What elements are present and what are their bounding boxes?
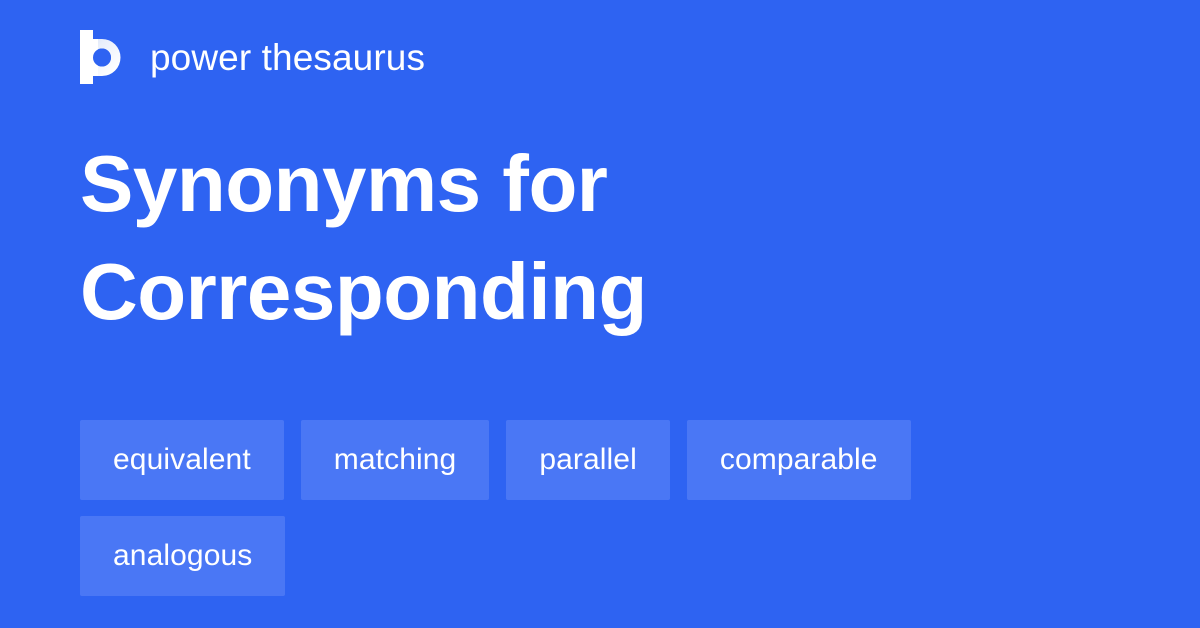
- synonym-tag[interactable]: parallel: [506, 420, 670, 500]
- synonym-tag[interactable]: comparable: [687, 420, 911, 500]
- page-title-line-1: Synonyms for: [80, 144, 1080, 224]
- brand-logo[interactable]: power thesaurus: [80, 27, 425, 87]
- page-title: Synonyms for Corresponding: [80, 144, 1080, 332]
- synonym-tag[interactable]: matching: [301, 420, 490, 500]
- synonym-tag[interactable]: equivalent: [80, 420, 284, 500]
- synonym-tag-list: equivalent matching parallel comparable …: [80, 420, 1120, 596]
- page-title-line-2: Corresponding: [80, 252, 1080, 332]
- synonym-tag[interactable]: analogous: [80, 516, 285, 596]
- power-thesaurus-b-logo-icon: [80, 30, 126, 84]
- share-card: power thesaurus Synonyms for Correspondi…: [0, 0, 1200, 628]
- brand-name: power thesaurus: [150, 39, 425, 76]
